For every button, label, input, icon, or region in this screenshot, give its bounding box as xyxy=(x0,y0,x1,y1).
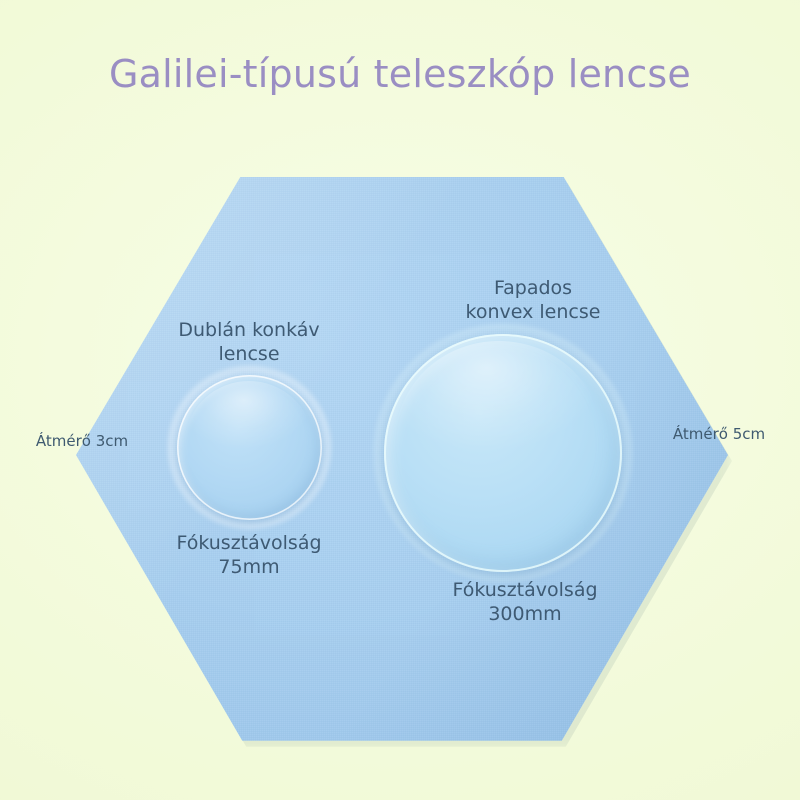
product-image-canvas: Galilei-típusú teleszkóp lencse Dublán k… xyxy=(0,0,800,800)
convex-lens-diameter-label: Átmérő 5cm xyxy=(655,425,783,444)
convex-lens-name-label: Fapados konvex lencse xyxy=(408,276,658,325)
convex-lens[interactable] xyxy=(384,334,622,572)
concave-lens[interactable] xyxy=(177,375,322,520)
concave-lens-name-label: Dublán konkáv lencse xyxy=(124,318,374,367)
concave-lens-diameter-label: Átmérő 3cm xyxy=(18,432,146,451)
convex-lens-focal-length-label: Fókusztávolság 300mm xyxy=(400,578,650,627)
concave-lens-focal-length-label: Fókusztávolság 75mm xyxy=(124,531,374,580)
page-title: Galilei-típusú teleszkóp lencse xyxy=(0,52,800,96)
